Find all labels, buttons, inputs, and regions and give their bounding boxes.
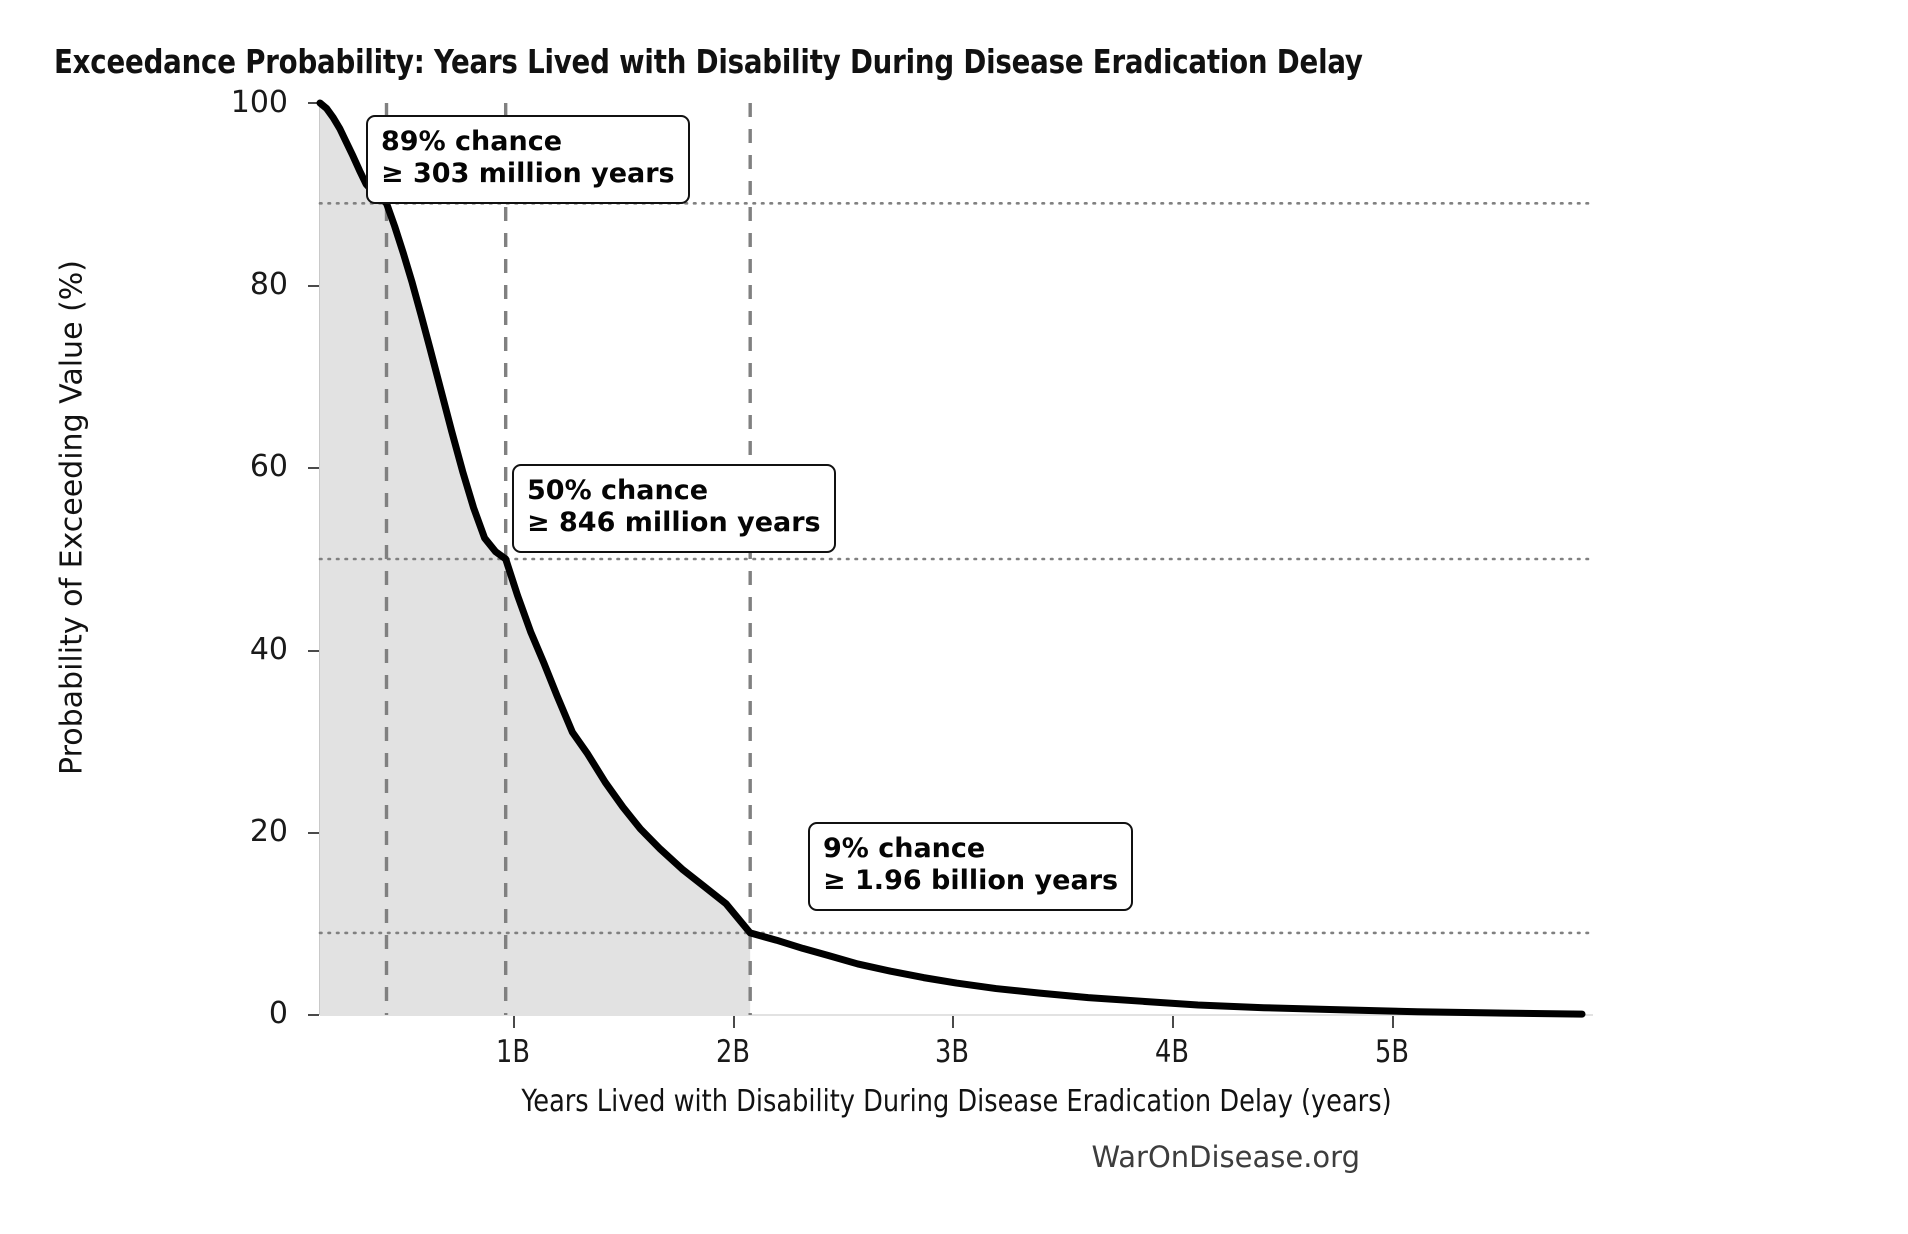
x-tick-mark-3B <box>952 1016 954 1028</box>
annotation-line-1: 50% chance <box>527 475 821 507</box>
x-tick-label-3B: 3B <box>897 1034 1007 1070</box>
x-tick-mark-5B <box>1392 1016 1394 1028</box>
y-tick-label: 80 <box>168 267 288 302</box>
x-tick-label-4B: 4B <box>1117 1034 1227 1070</box>
y-tick-mark-80 <box>308 285 319 287</box>
annotation-line-2: ≥ 1.96 billion years <box>823 865 1118 897</box>
x-axis-label: Years Lived with Disability During Disea… <box>352 1084 1561 1119</box>
y-tick-mark-40 <box>308 650 319 652</box>
annotation-line-2: ≥ 846 million years <box>527 507 821 539</box>
watermark: WarOnDisease.org <box>1091 1140 1360 1174</box>
chart-title: Exceedance Probability: Years Lived with… <box>54 42 1363 81</box>
y-tick-mark-60 <box>308 467 319 469</box>
y-tick-label: 40 <box>168 632 288 667</box>
x-tick-label-1B: 1B <box>458 1034 568 1070</box>
y-tick-label: 60 <box>168 449 288 484</box>
y-tick-label: 20 <box>168 814 288 849</box>
annotation-50-percent: 50% chance ≥ 846 million years <box>512 464 836 553</box>
annotation-line-1: 9% chance <box>823 833 1118 865</box>
chart-figure: Exceedance Probability: Years Lived with… <box>0 0 1908 1234</box>
x-tick-mark-4B <box>1172 1016 1174 1028</box>
y-tick-label: 0 <box>168 996 288 1031</box>
x-tick-label-2B: 2B <box>678 1034 788 1070</box>
x-tick-mark-2B <box>733 1016 735 1028</box>
annotation-line-2: ≥ 303 million years <box>381 158 675 190</box>
annotation-line-1: 89% chance <box>381 126 675 158</box>
annotation-89-percent: 89% chance ≥ 303 million years <box>366 115 690 204</box>
annotation-9-percent: 9% chance ≥ 1.96 billion years <box>808 822 1133 911</box>
x-tick-mark-1B <box>513 1016 515 1028</box>
y-axis-label: Probability of Exceeding Value (%) <box>55 188 90 848</box>
y-tick-mark-20 <box>308 832 319 834</box>
x-tick-label-5B: 5B <box>1337 1034 1447 1070</box>
y-tick-mark-0 <box>308 1014 319 1016</box>
y-tick-label: 100 <box>168 85 288 120</box>
